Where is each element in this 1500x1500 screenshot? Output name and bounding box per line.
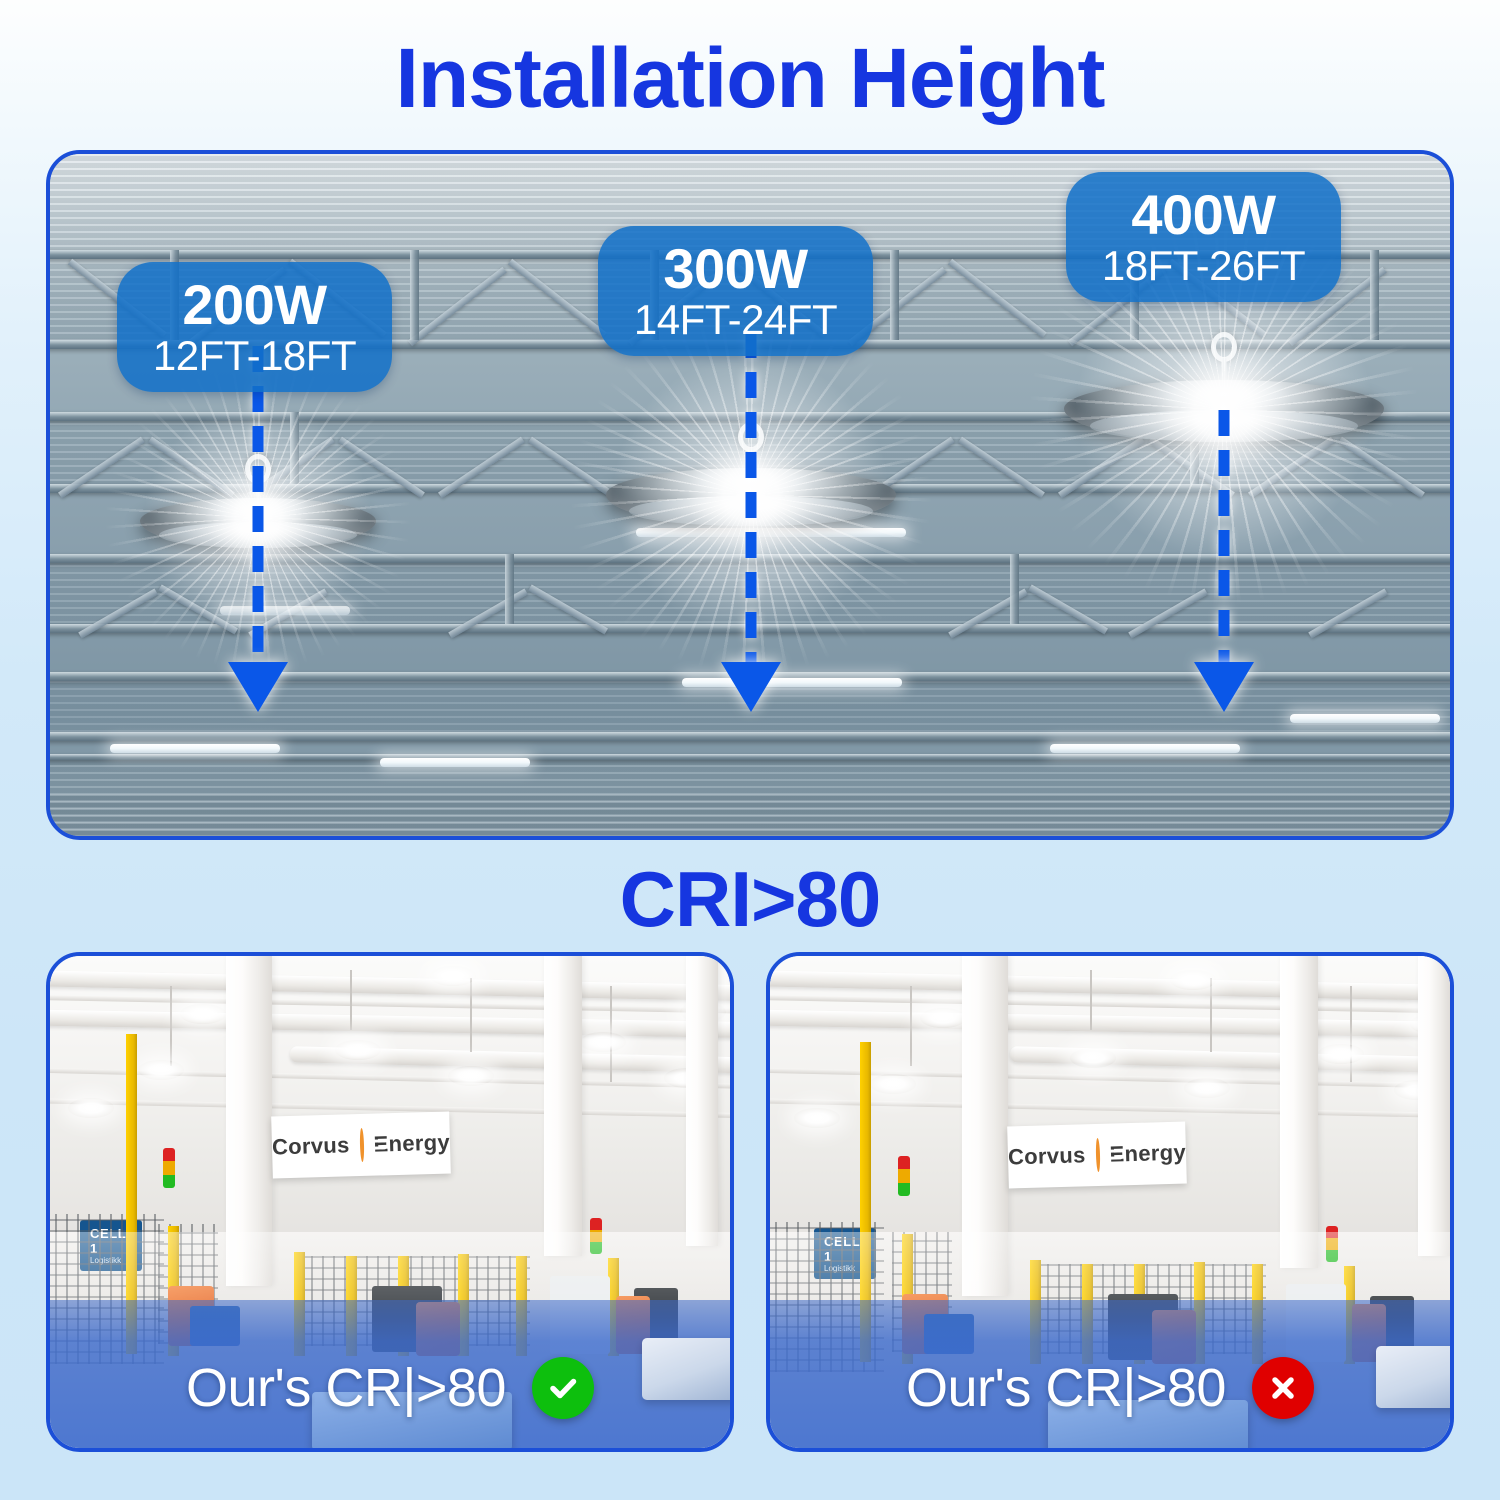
caption-ours: Our's CR|>80 (50, 1328, 730, 1448)
hanger-rod (1090, 970, 1092, 1030)
banner-text-right: Energy (1109, 1140, 1186, 1168)
truss-post (1370, 250, 1379, 340)
ceiling-lamp (430, 966, 476, 986)
arrow-dashed-line (1219, 410, 1230, 662)
support-column (1418, 956, 1450, 1256)
ceiling-lamp (180, 1004, 226, 1024)
linear-strip-light (1050, 744, 1240, 753)
panel-ours: Corvus Energy CELLE 1 Logistikk (46, 952, 734, 1452)
height-arrow-200w (228, 346, 288, 712)
hanger-rod (470, 978, 472, 1052)
arrow-head-icon (1194, 662, 1254, 712)
badge-200w-range: 12FT-18FT (143, 333, 366, 378)
cross-icon (1252, 1357, 1314, 1419)
truss-post (410, 250, 419, 340)
ceiling-lamp (920, 1008, 966, 1028)
badge-200w-watt: 200W (143, 276, 366, 333)
truss-post (890, 250, 899, 340)
banner-text-left: Corvus (272, 1132, 350, 1160)
page-title: Installation Height (0, 0, 1500, 118)
badge-300w[interactable]: 300W 14FT-24FT (598, 226, 873, 356)
lower-wall-band (46, 794, 1454, 840)
ceiling-lamp (335, 1040, 381, 1060)
hanger-rod (170, 986, 172, 1066)
check-icon (532, 1357, 594, 1419)
caption-others: Our's CR|>80 (770, 1328, 1450, 1448)
badge-400w-watt: 400W (1092, 186, 1315, 243)
ceiling-lamp (448, 1066, 494, 1086)
support-column (544, 956, 582, 1256)
ceiling-lamp (1184, 1078, 1230, 1098)
corvus-logo-icon (1095, 1138, 1100, 1172)
linear-strip-light (380, 758, 530, 767)
ceiling-lamp (794, 1108, 840, 1128)
caption-text-others: Our's CR|>80 (906, 1357, 1226, 1419)
andon-stack-light (163, 1148, 175, 1188)
height-arrow-300w (721, 332, 781, 712)
andon-stack-light (898, 1156, 910, 1196)
corvus-energy-banner: Corvus Energy (271, 1112, 451, 1179)
corvus-energy-banner: Corvus Energy (1007, 1122, 1187, 1189)
hanger-rod (1210, 978, 1212, 1052)
badge-400w-range: 18FT-26FT (1092, 243, 1315, 288)
support-column (1280, 956, 1318, 1268)
linear-strip-light (110, 744, 280, 753)
hanger-rod (350, 970, 352, 1030)
arrow-dashed-line (253, 346, 264, 662)
height-arrow-400w (1194, 410, 1254, 712)
truss-post (505, 554, 514, 624)
hanger-rod (910, 986, 912, 1066)
ceiling-lamp (870, 1074, 916, 1094)
support-column (686, 956, 718, 1246)
badge-400w[interactable]: 400W 18FT-26FT (1066, 172, 1341, 302)
truss-chord (46, 754, 1454, 760)
ceiling-lamp (138, 1060, 184, 1080)
badge-300w-watt: 300W (624, 240, 847, 297)
ceiling-lamp (1318, 1044, 1364, 1064)
ceiling-lamp (580, 1032, 626, 1052)
cri-title: CRI>80 (0, 846, 1500, 942)
hanger-rod (1350, 986, 1352, 1082)
truss-post (1010, 554, 1019, 624)
ceiling-lamp (1170, 970, 1216, 990)
linear-strip-light (1290, 714, 1440, 723)
ceiling-lamp (1070, 1048, 1116, 1068)
ceiling-lamp (68, 1098, 114, 1118)
caption-text-ours: Our's CR|>80 (186, 1357, 506, 1419)
arrow-head-icon (721, 662, 781, 712)
banner-text-left: Corvus (1008, 1142, 1086, 1170)
installation-height-panel: 200W 12FT-18FT 300W 14FT-24FT 400W 18FT-… (46, 150, 1454, 840)
arrow-head-icon (228, 662, 288, 712)
panel-others: Corvus Energy CELLE 1 Logistikk (766, 952, 1454, 1452)
cri-comparison-row: Corvus Energy CELLE 1 Logistikk (46, 952, 1454, 1452)
arrow-dashed-line (746, 332, 757, 662)
truss-chord (46, 732, 1454, 741)
badge-200w[interactable]: 200W 12FT-18FT (117, 262, 392, 392)
corvus-logo-icon (359, 1128, 364, 1162)
linear-strip-light (682, 678, 902, 687)
badge-300w-range: 14FT-24FT (624, 297, 847, 342)
banner-text-right: Energy (373, 1130, 450, 1158)
